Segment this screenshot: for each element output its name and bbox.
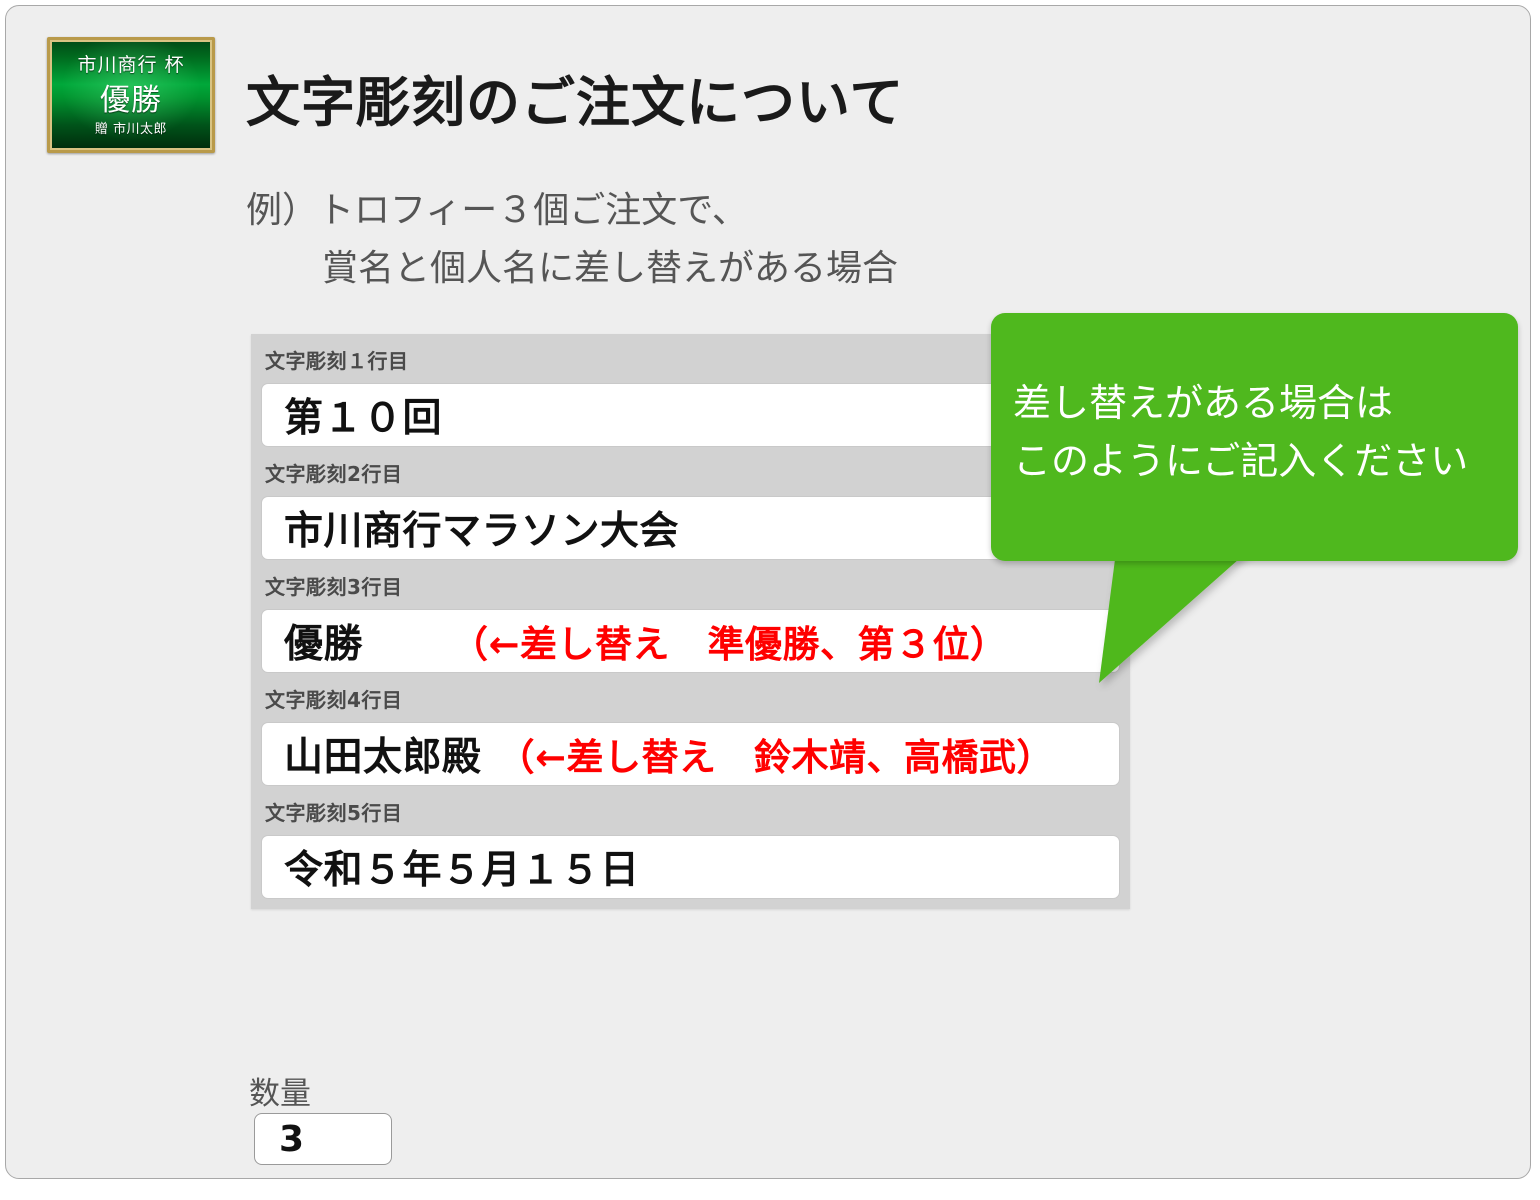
- engraving-value-line4: 山田太郎殿: [284, 726, 482, 782]
- example-line-1: 例）トロフィー３個ご注文で、: [246, 190, 748, 231]
- engraving-note-line4: （←差し替え 鈴木靖、高橋武）: [498, 727, 1055, 781]
- trophy-plate-image: 市川商行 杯 優勝 贈 市川太郎: [47, 37, 215, 153]
- engraving-form-panel: 文字彫刻１行目 第１０回 文字彫刻2行目 市川商行マラソン大会 文字彫刻3行目 …: [251, 334, 1130, 909]
- engraving-input-line2[interactable]: 市川商行マラソン大会: [261, 496, 1120, 560]
- engraving-value-line5: 令和５年５月１５日: [284, 839, 640, 895]
- field-label-line3: 文字彫刻3行目: [251, 560, 1130, 609]
- plate-line-3: 贈 市川太郎: [52, 118, 210, 137]
- engraving-value-line1: 第１０回: [284, 387, 442, 443]
- engraving-value-line3: 優勝: [284, 613, 363, 669]
- engraving-input-line4[interactable]: 山田太郎殿 （←差し替え 鈴木靖、高橋武）: [261, 722, 1120, 786]
- example-line-2: 賞名と個人名に差し替えがある場合: [246, 240, 898, 298]
- engraving-input-line3[interactable]: 優勝 （←差し替え 準優勝、第３位）: [261, 609, 1120, 673]
- page-title: 文字彫刻のご注文について: [246, 58, 904, 137]
- field-label-line5: 文字彫刻5行目: [251, 786, 1130, 835]
- example-description: 例）トロフィー３個ご注文で、 賞名と個人名に差し替えがある場合: [246, 182, 898, 299]
- engraving-value-line2: 市川商行マラソン大会: [284, 500, 679, 556]
- quantity-value: 3: [279, 1119, 304, 1160]
- field-label-line4: 文字彫刻4行目: [251, 673, 1130, 722]
- field-label-line2: 文字彫刻2行目: [251, 447, 1130, 496]
- quantity-label: 数量: [249, 1068, 311, 1113]
- plate-line-1: 市川商行 杯: [52, 50, 210, 77]
- engraving-input-line5[interactable]: 令和５年５月１５日: [261, 835, 1120, 899]
- page-container: 市川商行 杯 優勝 贈 市川太郎 文字彫刻のご注文について 例）トロフィー３個ご…: [5, 5, 1531, 1179]
- engraving-input-line1[interactable]: 第１０回: [261, 383, 1120, 447]
- engraving-note-line3: （←差し替え 準優勝、第３位）: [451, 614, 1008, 668]
- field-label-line1: 文字彫刻１行目: [251, 334, 1130, 383]
- quantity-input[interactable]: 3: [254, 1113, 392, 1165]
- trophy-plate-face: 市川商行 杯 優勝 贈 市川太郎: [50, 40, 212, 150]
- plate-line-2: 優勝: [52, 75, 210, 119]
